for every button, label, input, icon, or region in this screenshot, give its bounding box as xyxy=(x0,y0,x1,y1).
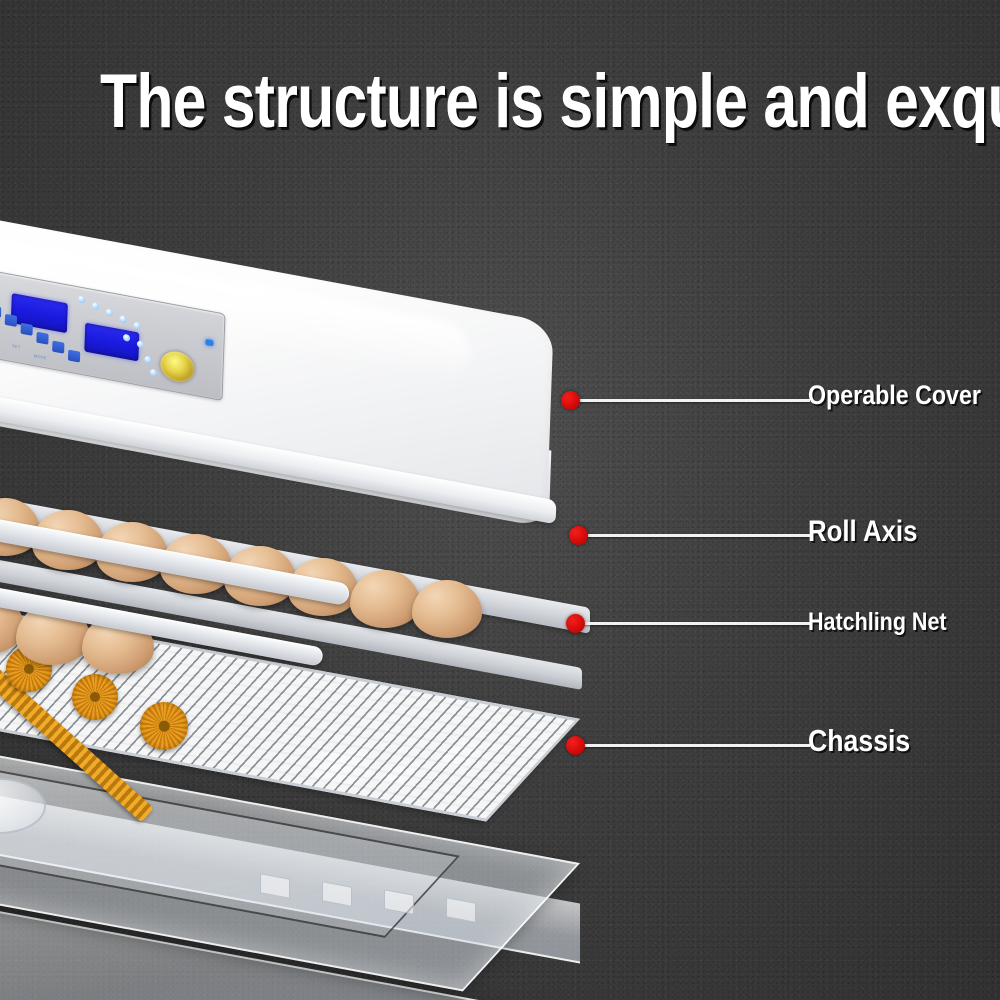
panel-button[interactable] xyxy=(52,341,64,354)
status-led xyxy=(150,369,157,377)
panel-label-mode: MODE xyxy=(34,353,47,360)
leader-dot-hatchling-net xyxy=(566,614,585,633)
leader-line-chassis xyxy=(584,744,810,747)
power-knob[interactable] xyxy=(160,349,195,385)
egg xyxy=(412,580,482,638)
status-led xyxy=(120,315,127,323)
status-led xyxy=(106,308,113,316)
leader-dot-operable-cover xyxy=(561,391,580,410)
status-led xyxy=(137,340,144,348)
leader-line-operable-cover xyxy=(578,399,810,402)
leader-dot-chassis xyxy=(566,736,585,755)
status-led xyxy=(78,295,85,303)
callout-chassis: Chassis xyxy=(808,723,910,759)
layer-operable-cover: TEMP HUMI DAYS SET MODE xyxy=(0,252,610,552)
status-led xyxy=(92,302,99,310)
panel-label-set: SET xyxy=(12,343,21,350)
panel-button[interactable] xyxy=(68,349,80,362)
leader-dot-roll-axis xyxy=(569,526,588,545)
panel-button[interactable] xyxy=(21,323,33,336)
callout-roll-axis: Roll Axis xyxy=(808,515,917,549)
status-led xyxy=(144,356,151,364)
egg xyxy=(350,570,420,628)
humidity-display xyxy=(84,323,139,362)
leader-line-hatchling-net xyxy=(584,622,810,625)
leader-line-roll-axis xyxy=(588,534,810,537)
panel-button[interactable] xyxy=(5,314,17,327)
callout-hatchling-net: Hatchling Net xyxy=(808,608,947,637)
pilot-light xyxy=(205,339,213,346)
status-led xyxy=(123,334,130,342)
status-led xyxy=(133,322,140,330)
panel-button[interactable] xyxy=(36,332,48,345)
product-illustration: TEMP HUMI DAYS SET MODE xyxy=(0,0,1000,1000)
product-infographic: The structure is simple and exquisite xyxy=(0,0,1000,1000)
callout-operable-cover: Operable Cover xyxy=(808,380,981,411)
panel-button[interactable] xyxy=(0,305,1,318)
temperature-display xyxy=(11,293,68,333)
